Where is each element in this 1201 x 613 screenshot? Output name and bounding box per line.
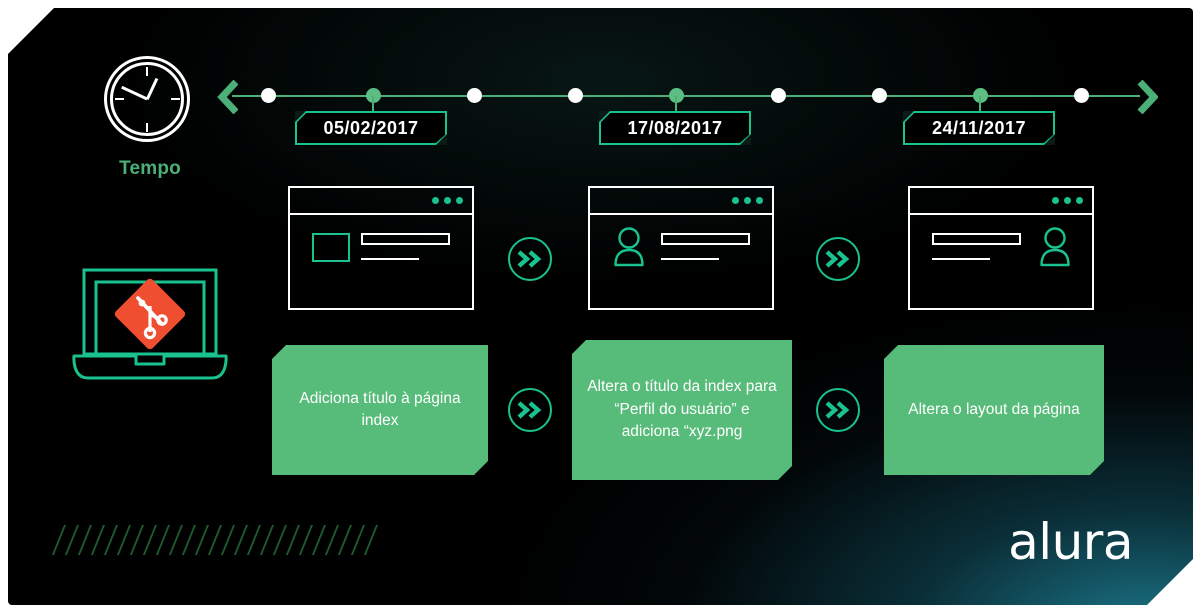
date-badge-3[interactable]: 24/11/2017 — [903, 111, 1055, 145]
timeline-dot — [467, 88, 482, 103]
timeline-dot — [568, 88, 583, 103]
text-line — [361, 258, 419, 260]
slash-mark — [117, 525, 131, 555]
commit-message: Adiciona título à página index — [286, 388, 474, 433]
image-placeholder — [312, 233, 350, 262]
browser-mockup-2 — [588, 186, 774, 310]
tempo-label: Tempo — [104, 158, 196, 180]
clock-icon — [104, 56, 196, 148]
mockup-titlebar — [910, 188, 1092, 215]
slash-mark — [351, 525, 365, 555]
slash-mark — [299, 525, 313, 555]
laptop-git-icon — [66, 262, 246, 382]
mockup-body — [290, 215, 472, 308]
window-dot — [756, 197, 763, 204]
double-chevron-right-icon — [517, 250, 543, 268]
window-dot — [732, 197, 739, 204]
date-label: 24/11/2017 — [932, 118, 1026, 139]
slash-mark — [78, 525, 92, 555]
slash-mark — [208, 525, 222, 555]
date-badge-2[interactable]: 17/08/2017 — [599, 111, 751, 145]
slash-mark — [182, 525, 196, 555]
timeline-dot — [1074, 88, 1089, 103]
commit-card-1[interactable]: Adiciona título à página index — [272, 345, 488, 475]
mockup-body — [590, 215, 772, 308]
commit-message: Altera o título da index para “Perfil do… — [586, 376, 778, 443]
slash-mark — [91, 525, 105, 555]
window-dot — [456, 197, 463, 204]
slash-mark — [143, 525, 157, 555]
mockup-titlebar — [590, 188, 772, 215]
text-line — [661, 258, 719, 260]
slash-mark — [286, 525, 300, 555]
timeline-dot — [261, 88, 276, 103]
slash-mark — [221, 525, 235, 555]
clock-tick-9 — [115, 98, 124, 100]
user-avatar-icon — [612, 227, 646, 263]
slash-mark — [247, 525, 261, 555]
heading-bar — [361, 233, 450, 245]
mockup-body — [910, 215, 1092, 308]
double-chevron-right-icon — [517, 401, 543, 419]
window-dot — [1052, 197, 1059, 204]
commit-message: Altera o layout da página — [908, 399, 1079, 421]
mock-connector-1 — [508, 237, 552, 281]
timeline-dot — [872, 88, 887, 103]
clock-tick-6 — [146, 123, 148, 132]
double-chevron-right-icon — [825, 401, 851, 419]
browser-mockup-1 — [288, 186, 474, 310]
slash-mark — [234, 525, 248, 555]
slash-mark — [169, 525, 183, 555]
commit-card-3[interactable]: Altera o layout da página — [884, 345, 1104, 475]
slash-mark — [65, 525, 79, 555]
window-dot — [1076, 197, 1083, 204]
diagonal-slashes-decoration — [64, 525, 394, 555]
window-dot — [444, 197, 451, 204]
slash-mark — [260, 525, 274, 555]
clock-tick-3 — [171, 98, 180, 100]
card-connector-2 — [816, 388, 860, 432]
slash-mark — [195, 525, 209, 555]
window-dot — [1064, 197, 1071, 204]
browser-mockup-3 — [908, 186, 1094, 310]
slash-mark — [364, 525, 378, 555]
alura-logo: alura — [1008, 513, 1133, 571]
mockup-titlebar — [290, 188, 472, 215]
screenshot-root: Tempo 05/02/2017 — [0, 0, 1201, 613]
heading-bar — [661, 233, 750, 245]
slash-mark — [104, 525, 118, 555]
user-avatar-icon — [1038, 227, 1072, 263]
window-dots — [1052, 197, 1083, 204]
slash-mark — [130, 525, 144, 555]
timeline-dot — [771, 88, 786, 103]
slash-mark — [312, 525, 326, 555]
text-line — [932, 258, 990, 260]
date-label: 05/02/2017 — [323, 118, 418, 139]
commit-card-2[interactable]: Altera o título da index para “Perfil do… — [572, 340, 792, 480]
slash-mark — [273, 525, 287, 555]
chevron-right-icon — [1136, 80, 1158, 114]
window-dots — [432, 197, 463, 204]
clock-tick-12 — [146, 67, 148, 76]
slash-mark — [338, 525, 352, 555]
mock-connector-2 — [816, 237, 860, 281]
window-dot — [744, 197, 751, 204]
chevron-left-icon — [216, 80, 238, 114]
double-chevron-right-icon — [825, 250, 851, 268]
card-connector-1 — [508, 388, 552, 432]
date-badge-1[interactable]: 05/02/2017 — [295, 111, 447, 145]
slash-mark — [156, 525, 170, 555]
slash-mark — [325, 525, 339, 555]
heading-bar — [932, 233, 1021, 245]
window-dot — [432, 197, 439, 204]
window-dots — [732, 197, 763, 204]
date-label: 17/08/2017 — [627, 118, 722, 139]
